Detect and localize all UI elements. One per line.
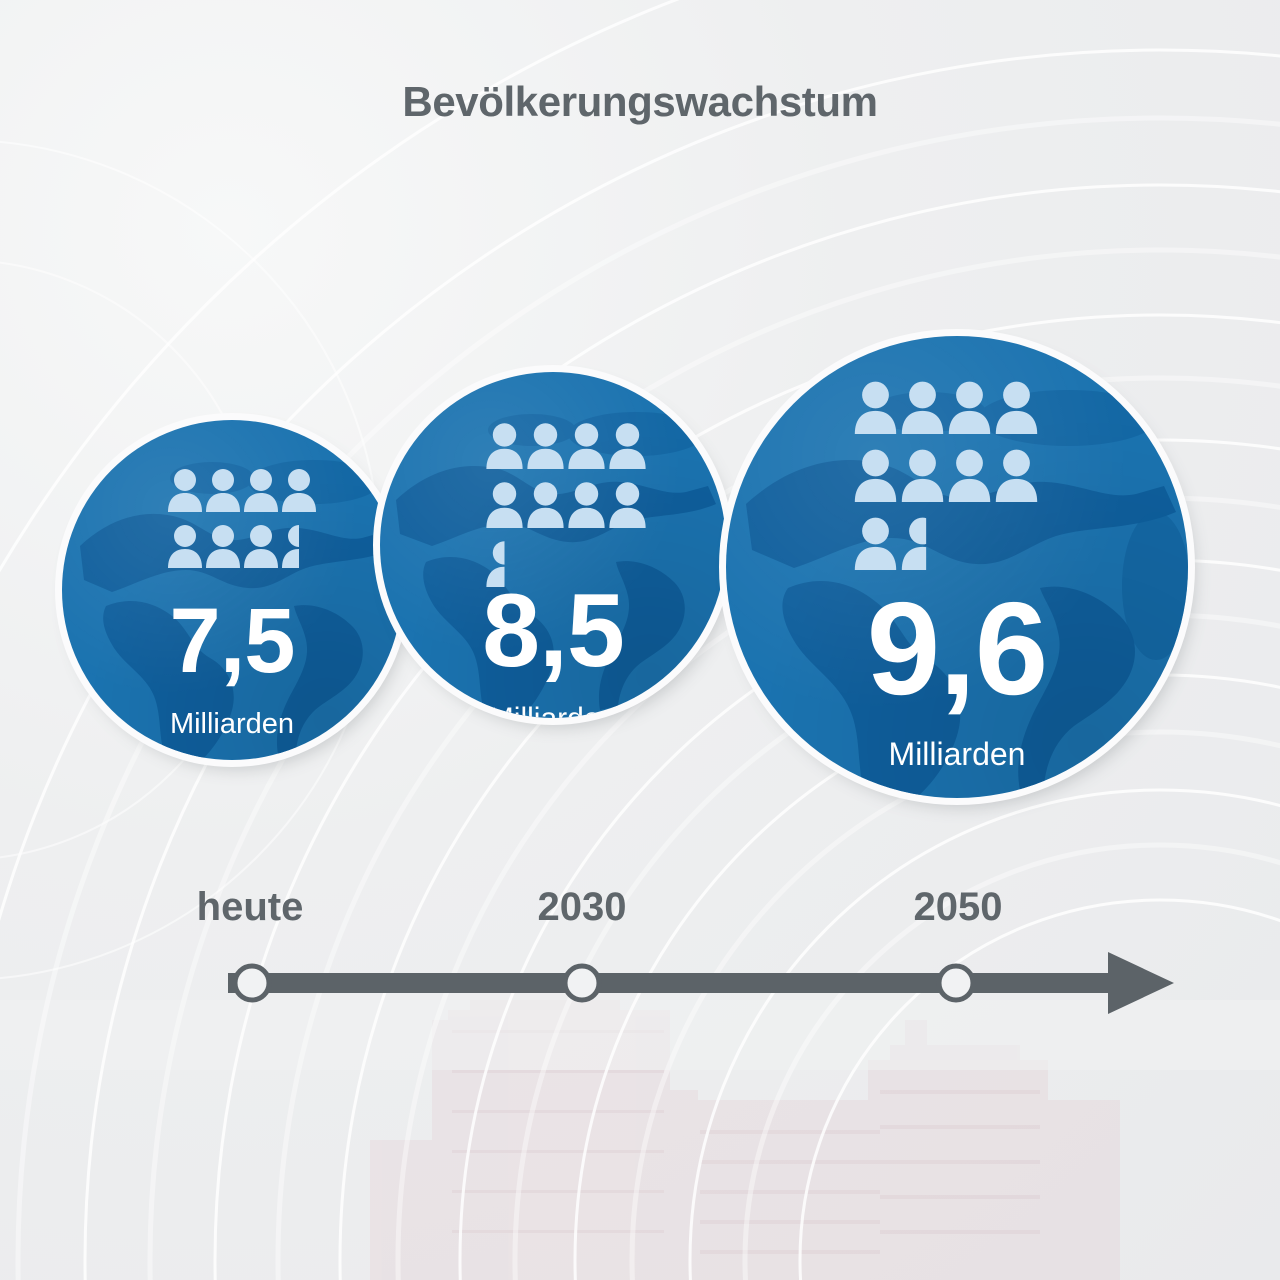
person-icon-row (484, 420, 648, 469)
person-icon (242, 466, 280, 512)
infographic-canvas: Bevölkerungswachstum (0, 0, 1280, 1280)
value-label-2050: 9,6 (726, 586, 1188, 711)
person-half-icon (280, 522, 318, 568)
person-icon (525, 420, 566, 469)
globe-icon-heute[interactable]: 7,5 Milliarden (62, 420, 402, 760)
person-icon (525, 479, 566, 528)
person-icon (484, 479, 525, 528)
person-icon (852, 514, 899, 570)
person-icon (484, 420, 525, 469)
person-icon (566, 479, 607, 528)
person-icon-row (852, 514, 946, 570)
person-icon-group-2030 (484, 420, 648, 587)
person-icon-row (852, 446, 1040, 502)
unit-label-heute: Milliarden (62, 708, 402, 741)
timeline-label-2030: 2030 (482, 885, 682, 930)
value-label-heute: 7,5 (62, 598, 402, 685)
person-icon (204, 466, 242, 512)
arrow-right-icon (228, 952, 1174, 1014)
timeline-axis[interactable] (0, 930, 1280, 1040)
person-icon (852, 446, 899, 502)
person-icon (166, 466, 204, 512)
person-icon (607, 479, 648, 528)
unit-label-2050: Milliarden (726, 736, 1188, 773)
person-icon (852, 378, 899, 434)
person-icon-row (166, 466, 318, 512)
person-icon (899, 378, 946, 434)
globe-icon-2050[interactable]: 9,6 Milliarden (726, 336, 1188, 798)
person-icon (993, 446, 1040, 502)
timeline-marker-2050[interactable] (939, 966, 973, 1000)
person-icon (204, 522, 242, 568)
globe-icon-2030[interactable]: 8,5 Milliarden (380, 372, 726, 718)
person-icon (993, 378, 1040, 434)
person-icon (280, 466, 318, 512)
timeline-label-heute: heute (150, 885, 350, 930)
unit-label-2030: Milliarden (380, 702, 726, 718)
person-partial-icon (899, 514, 946, 570)
person-icon (242, 522, 280, 568)
value-label-2030: 8,5 (380, 582, 726, 681)
timeline-label-2050: 2050 (858, 885, 1058, 930)
person-icon-group-2050 (852, 378, 1040, 570)
person-icon (899, 446, 946, 502)
person-icon (166, 522, 204, 568)
person-icon (946, 446, 993, 502)
person-icon-row (852, 378, 1040, 434)
timeline-marker-2030[interactable] (565, 966, 599, 1000)
person-icon-group-heute (166, 466, 318, 568)
person-icon-row (484, 479, 648, 528)
person-icon (566, 420, 607, 469)
page-title: Bevölkerungswachstum (0, 78, 1280, 126)
person-icon (607, 420, 648, 469)
person-icon (946, 378, 993, 434)
person-icon-row (166, 522, 318, 568)
timeline-marker-heute[interactable] (235, 966, 269, 1000)
